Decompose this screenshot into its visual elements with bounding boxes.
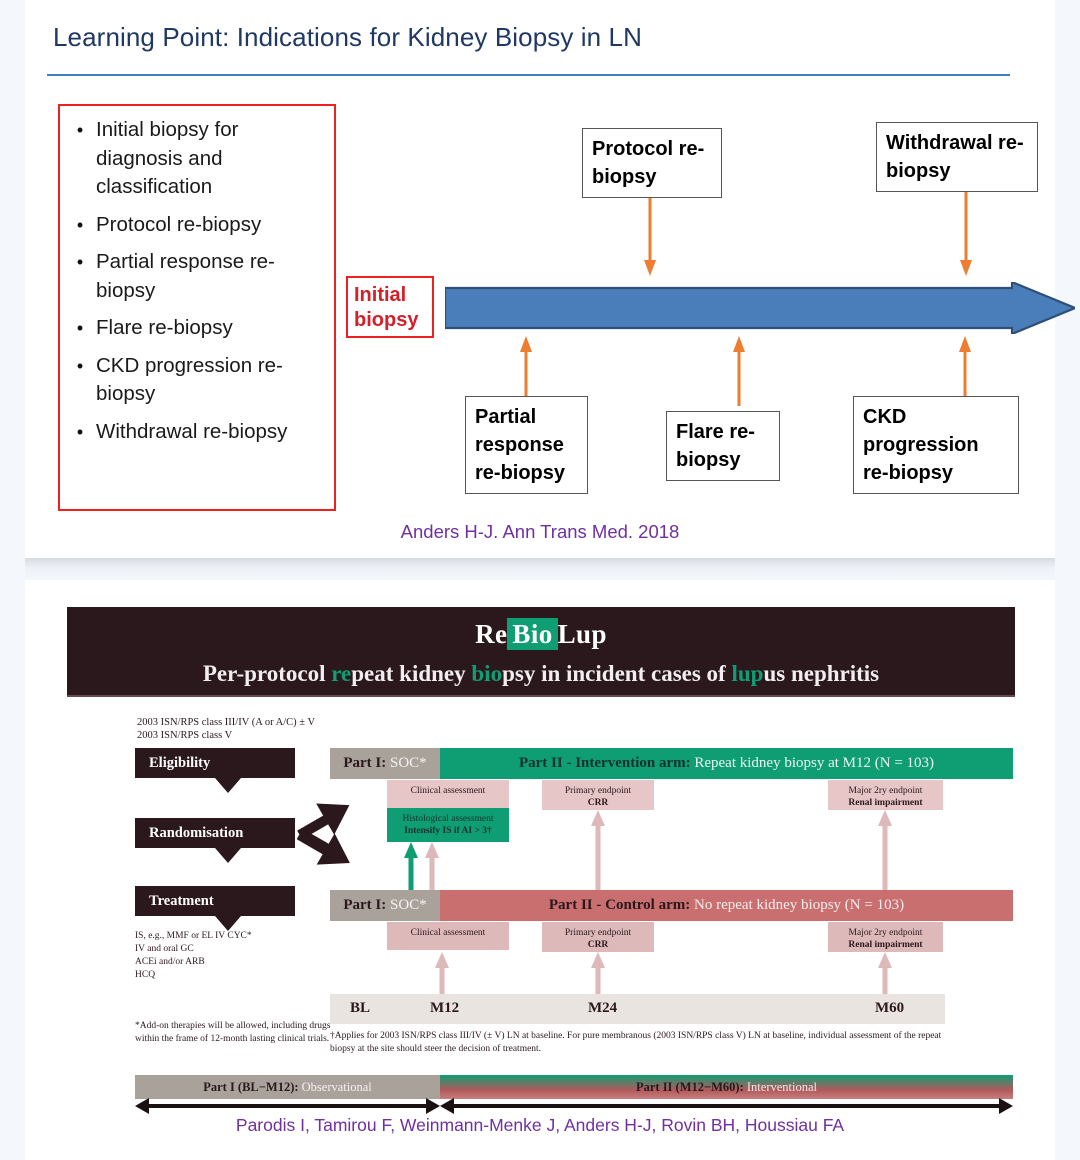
bullet-icon: • [64, 418, 96, 447]
arrow-up-primary-endpoint-intervention [591, 810, 605, 890]
connector-arrow-down-protocol [643, 198, 657, 276]
intervention-secondary-endpoint: Major 2ry endpoint Renal impairment [828, 780, 943, 810]
intervention-clinical-assessment: Clinical assessment [387, 780, 509, 808]
month-tick-m12: M12 [430, 1000, 459, 1017]
intervention-primary-endpoint: Primary endpoint CRR [542, 780, 654, 810]
timeline-box-partial-response-rebiopsy: Partial response re-biopsy [465, 396, 588, 494]
citation-parodis: Parodis I, Tamirou F, Weinmann-Menke J, … [25, 1115, 1055, 1136]
month-tick-m24: M24 [588, 1000, 617, 1017]
connector-arrow-up-flare [732, 336, 746, 406]
timeline-months-bar: BL M12 M24 M60 [330, 994, 945, 1024]
intervention-arm-bar: Part II - Intervention arm: Repeat kidne… [440, 748, 1013, 779]
connector-arrow-down-withdrawal [959, 192, 973, 276]
endpoint-line1: Primary endpoint [542, 785, 654, 797]
footnote-isn-rps-class: †Applies for 2003 ISN/RPS class III/IV (… [330, 1030, 945, 1056]
timeline-box-protocol-rebiopsy: Protocol re-biopsy [582, 128, 722, 198]
slide-rebiolup-study-design: ReBioLup Per-protocol repeat kidney biop… [25, 580, 1055, 1160]
timeline-box-label: Withdrawal re-biopsy [886, 132, 1024, 182]
part1-range-arrow [135, 1095, 440, 1117]
slide-separator [25, 558, 1055, 580]
initial-biopsy-box: Initial biopsy [346, 276, 434, 338]
treatment-detail-4: HCQ [135, 969, 155, 982]
assessment-line1: Histological assessment [387, 813, 509, 825]
endpoint-line2: CRR [542, 797, 654, 809]
intervention-part2-value: Repeat kidney biopsy at M12 (N = 103) [694, 755, 934, 771]
list-item: • CKD progression re-biopsy [64, 352, 326, 409]
bullet-icon: • [64, 352, 96, 409]
eligibility-criterion-2: 2003 ISN/RPS class V [137, 729, 232, 742]
endpoint-line2: CRR [542, 939, 654, 951]
randomisation-fork-arrows [297, 780, 359, 890]
endpoint-line2: Renal impairment [828, 939, 943, 951]
timeline-box-flare-rebiopsy: Flare re-biopsy [666, 411, 780, 481]
initial-biopsy-label: Initial biopsy [354, 284, 418, 331]
assessment-label: Clinical assessment [387, 927, 509, 939]
intervention-histological-assessment: Histological assessment Intensify IS if … [387, 808, 509, 842]
part1-value: Observational [302, 1080, 372, 1094]
tag-treatment: Treatment [135, 886, 295, 916]
arrow-up-clinical-pink [425, 842, 439, 890]
timeline-box-label: Flare re-biopsy [676, 421, 755, 471]
endpoint-line1: Major 2ry endpoint [828, 927, 943, 939]
arrow-up-clinical-control [435, 952, 449, 994]
intervention-part1-label: Part I: [343, 755, 386, 771]
timeline-box-ckd-progression-rebiopsy: CKD progression re-biopsy [853, 396, 1019, 494]
title-divider [47, 74, 1010, 76]
endpoint-line2: Renal impairment [828, 797, 943, 809]
arrow-up-secondary-endpoint-intervention [878, 810, 892, 890]
arrow-up-histological-teal [404, 842, 418, 890]
part1-label: Part I (BL−M12): [203, 1080, 298, 1094]
intervention-part2-label: Part II - Intervention arm: [519, 755, 691, 771]
intervention-part1-segment: Part I: SOC* [330, 748, 440, 779]
control-clinical-assessment: Clinical assessment [387, 922, 509, 950]
list-item: • Protocol re-biopsy [64, 211, 326, 240]
part2-label: Part II (M12−M60): [636, 1080, 744, 1094]
timeline-box-withdrawal-rebiopsy: Withdrawal re-biopsy [876, 122, 1038, 192]
bullet-icon: • [64, 248, 96, 305]
arrow-up-secondary-endpoint-control [878, 952, 892, 994]
endpoint-line1: Primary endpoint [542, 927, 654, 939]
endpoint-line1: Major 2ry endpoint [828, 785, 943, 797]
timeline-box-label: CKD progression re-biopsy [863, 406, 979, 484]
arrow-up-primary-endpoint-control [591, 952, 605, 994]
control-part1-value: SOC* [390, 897, 427, 913]
timeline-box-label: Protocol re-biopsy [592, 138, 704, 188]
footnote-addon-therapies: *Add-on therapies will be allowed, inclu… [135, 1020, 340, 1046]
connector-arrow-up-partial-response [519, 336, 533, 396]
tag-eligibility: Eligibility [135, 748, 295, 778]
month-tick-bl: BL [350, 1000, 370, 1017]
treatment-detail-1: IS, e.g., MMF or EL IV CYC* [135, 930, 252, 943]
eligibility-criterion-1: 2003 ISN/RPS class III/IV (A or A/C) ± V [137, 716, 315, 729]
connector-arrow-up-ckd-progression [958, 336, 972, 396]
timeline-arrow [445, 282, 1075, 334]
assessment-line2: Intensify IS if AI > 3† [387, 825, 509, 837]
part2-value: Interventional [747, 1080, 817, 1094]
tag-randomisation: Randomisation [135, 818, 295, 848]
control-primary-endpoint: Primary endpoint CRR [542, 922, 654, 952]
timeline-box-label: Partial response re-biopsy [475, 406, 565, 484]
slide-indications-for-kidney-biopsy: Learning Point: Indications for Kidney B… [25, 0, 1055, 558]
control-part2-value: No repeat kidney biopsy (N = 103) [694, 897, 904, 913]
list-item-label: Initial biopsy for diagnosis and classif… [96, 116, 306, 202]
citation-anders: Anders H-J. Ann Trans Med. 2018 [25, 521, 1055, 543]
list-item-label: Partial response re-biopsy [96, 248, 306, 305]
list-item-label: Protocol re-biopsy [96, 211, 261, 240]
control-part2-label: Part II - Control arm: [549, 897, 690, 913]
list-item: • Withdrawal re-biopsy [64, 418, 326, 447]
control-part1-segment: Part I: SOC* [330, 890, 440, 921]
list-item-label: Withdrawal re-biopsy [96, 418, 287, 447]
bullet-icon: • [64, 116, 96, 202]
intervention-part1-value: SOC* [390, 755, 427, 771]
treatment-detail-3: ACEi and/or ARB [135, 956, 205, 969]
bullet-icon: • [64, 314, 96, 343]
control-arm-bar: Part II - Control arm: No repeat kidney … [440, 890, 1013, 921]
control-part1-label: Part I: [343, 897, 386, 913]
list-item: • Flare re-biopsy [64, 314, 326, 343]
assessment-label: Clinical assessment [387, 785, 509, 797]
page-title: Learning Point: Indications for Kidney B… [53, 22, 642, 53]
list-item: • Partial response re-biopsy [64, 248, 326, 305]
month-tick-m60: M60 [875, 1000, 904, 1017]
part2-range-arrow [440, 1095, 1013, 1117]
list-item-label: CKD progression re-biopsy [96, 352, 306, 409]
control-secondary-endpoint: Major 2ry endpoint Renal impairment [828, 922, 943, 952]
treatment-detail-2: IV and oral GC [135, 943, 194, 956]
list-item-label: Flare re-biopsy [96, 314, 233, 343]
bullet-icon: • [64, 211, 96, 240]
list-item: • Initial biopsy for diagnosis and class… [64, 116, 326, 202]
indications-list-box: • Initial biopsy for diagnosis and class… [58, 104, 336, 511]
study-design-diagram: 2003 ISN/RPS class III/IV (A or A/C) ± V… [25, 580, 1055, 1160]
